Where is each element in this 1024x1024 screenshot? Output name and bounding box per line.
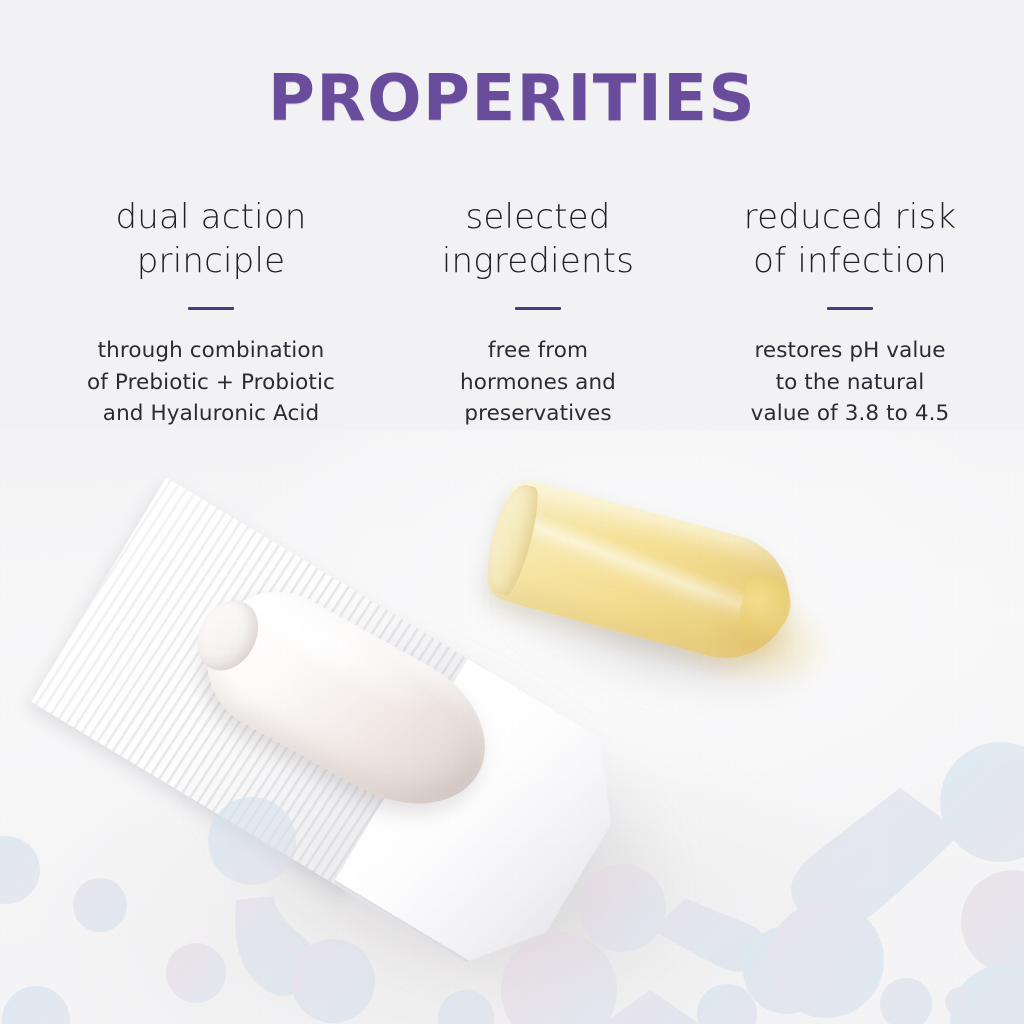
feature-body: through combination of Prebiotic + Probi… [46, 335, 376, 430]
feature-columns: dual action principle through combinatio… [40, 196, 984, 430]
feature-column-reduced-risk: reduced risk of infection restores pH va… [694, 196, 1006, 430]
feature-body: restores pH value to the natural value o… [700, 335, 1000, 430]
feature-column-selected-ingredients: selected ingredients free from hormones … [382, 196, 694, 430]
feature-divider [515, 307, 561, 310]
feature-column-dual-action: dual action principle through combinatio… [40, 196, 382, 430]
feature-divider [188, 307, 234, 310]
feature-body: free from hormones and preservatives [388, 335, 688, 430]
feature-heading: dual action principle [46, 196, 376, 283]
product-photo [0, 430, 1024, 1024]
feature-heading: reduced risk of infection [700, 196, 1000, 283]
yellow-softgel-ovule [470, 470, 830, 720]
feature-heading: selected ingredients [388, 196, 688, 283]
feature-divider [827, 307, 873, 310]
product-infographic: PROPERITIES dual action principle throug… [0, 0, 1024, 1024]
page-title: PROPERITIES [0, 62, 1024, 136]
